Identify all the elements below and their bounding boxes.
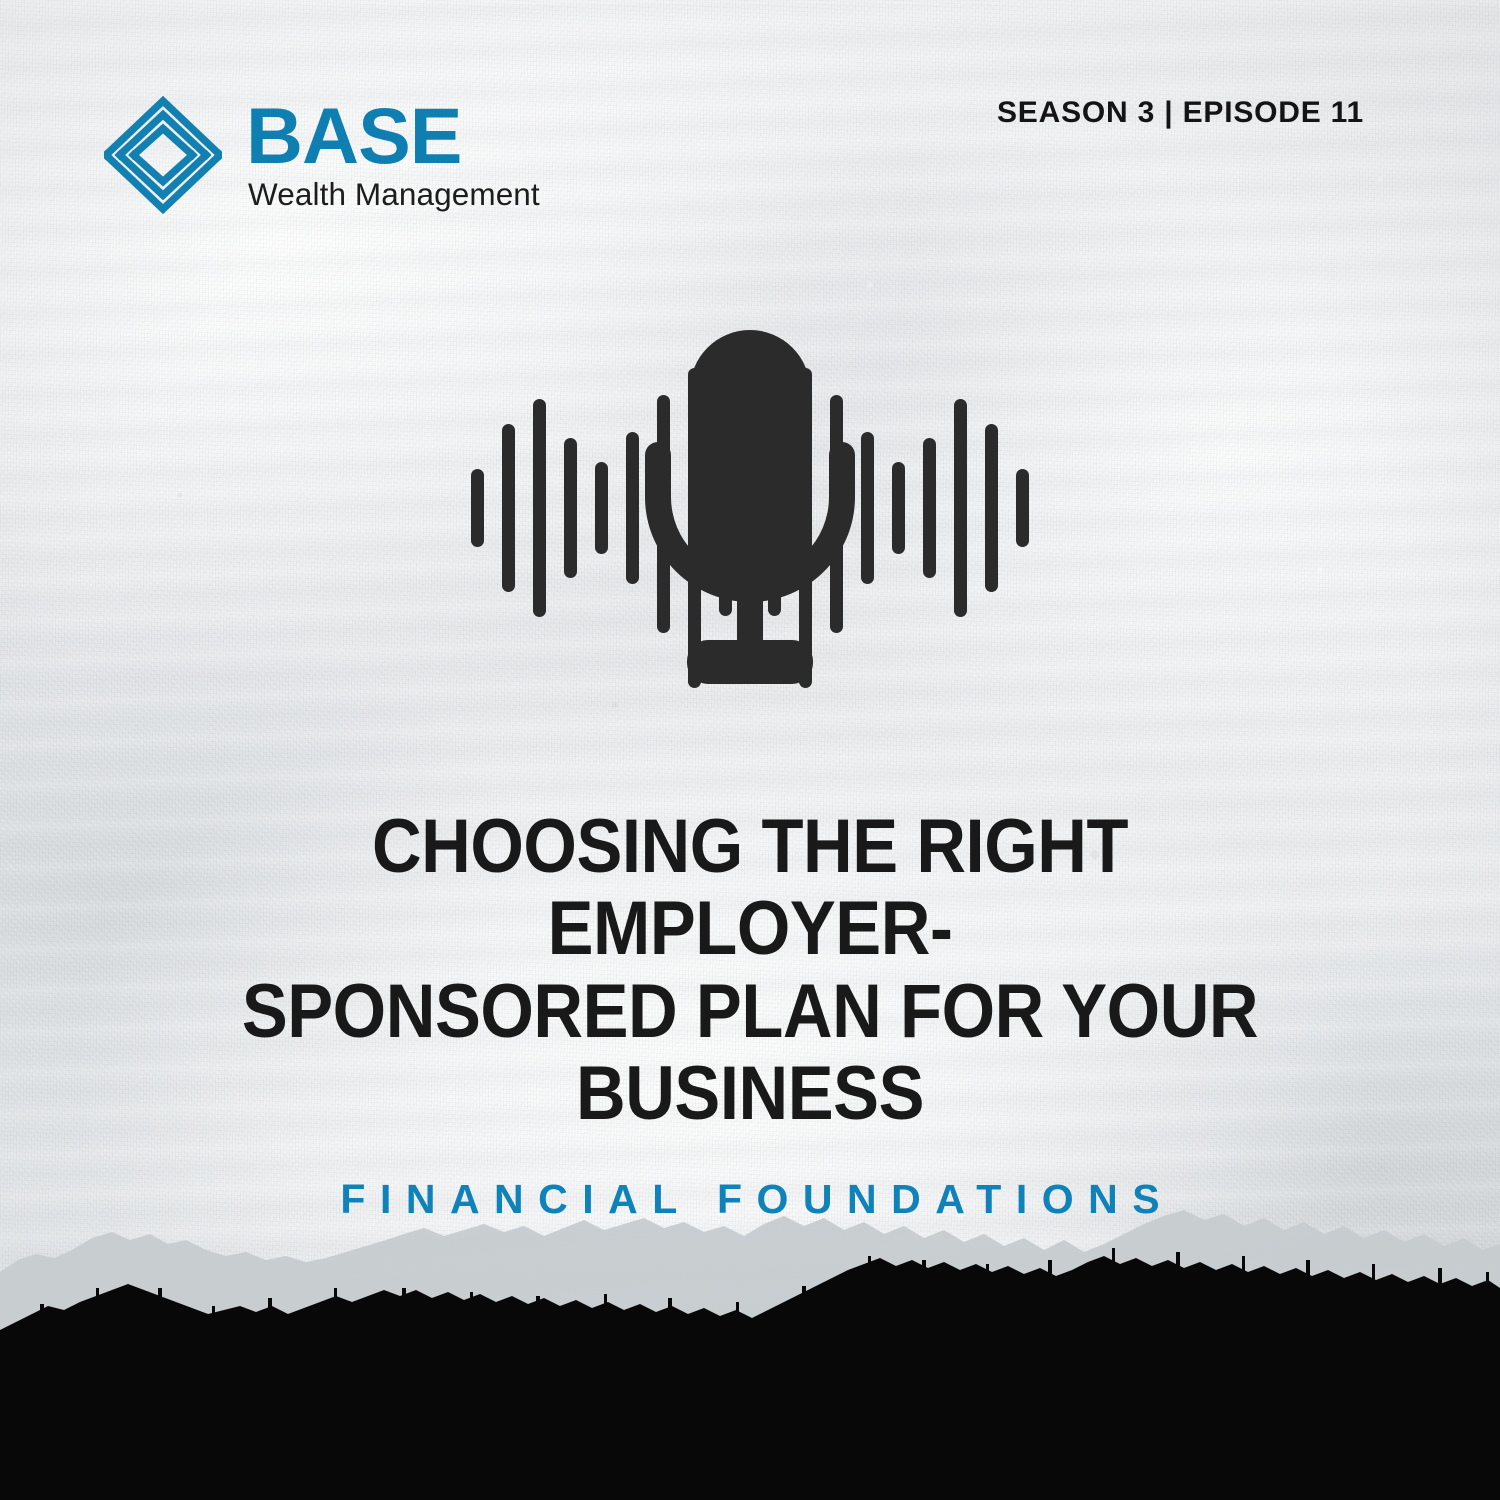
- microphone-icon: [645, 330, 855, 684]
- microphone-waveform-icon: [0, 322, 1500, 694]
- episode-title: CHOOSING THE RIGHT EMPLOYER- SPONSORED P…: [193, 806, 1306, 1136]
- brand-lockup: BASE Wealth Management: [104, 96, 540, 214]
- nested-diamond-logo-icon: [104, 96, 222, 214]
- title-block: CHOOSING THE RIGHT EMPLOYER- SPONSORED P…: [135, 806, 1365, 1223]
- brand-tagline: Wealth Management: [248, 179, 540, 211]
- podcast-cover: BASE Wealth Management SEASON 3 | EPISOD…: [0, 0, 1500, 1500]
- brand-name: BASE: [246, 100, 540, 173]
- torn-paper-edge: [0, 1210, 1500, 1500]
- brand-wordmark: BASE Wealth Management: [246, 100, 540, 210]
- season-episode-label: SEASON 3 | EPISODE 11: [997, 96, 1364, 130]
